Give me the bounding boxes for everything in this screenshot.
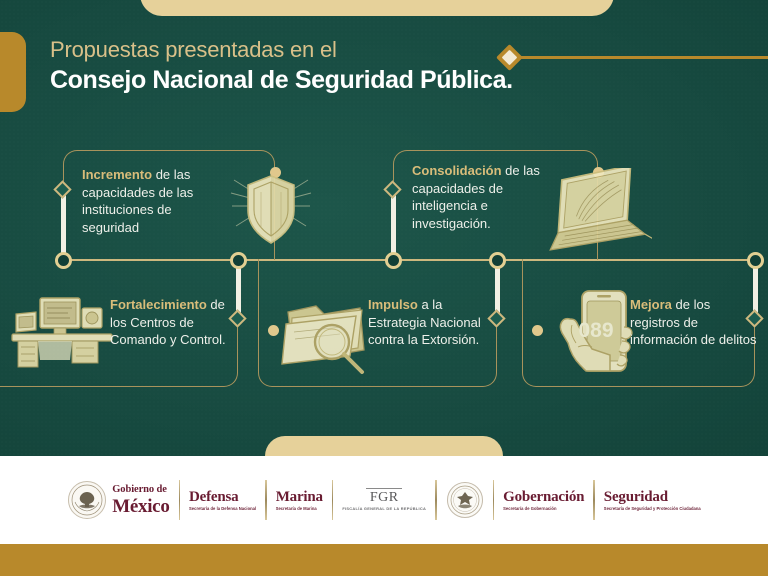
fgr-sub-label: FISCALÍA GENERAL DE LA REPÚBLICA (342, 506, 426, 511)
defensa-big-label: Defensa (189, 489, 256, 506)
logo-fgr: FGR FISCALÍA GENERAL DE LA REPÚBLICA (333, 477, 435, 523)
logo-seguridad: Seguridad Secretaría de Seguridad y Prot… (595, 477, 710, 523)
footer-gold-bar (0, 544, 768, 576)
card-text-impulso: Impulso a la Estrategia Nacional contra … (368, 296, 503, 349)
title-gold-rule (508, 56, 768, 59)
gobierno-small-label: Gobierno de (112, 484, 169, 496)
logo-seal-eagle (437, 477, 493, 523)
timeline-node-4 (489, 252, 506, 269)
marina-sub-label: Secretaría de Marina (276, 506, 323, 512)
stem-consolidacion (391, 190, 396, 260)
left-gold-tab (0, 32, 26, 112)
card-lead-fortalecimiento: Fortalecimiento (110, 297, 207, 312)
card-lead-consolidacion: Consolidación (412, 163, 502, 178)
top-beige-banner (140, 0, 614, 16)
defensa-labels: Defensa Secretaría de la Defensa Naciona… (189, 489, 256, 512)
logo-marina: Marina Secretaría de Marina (267, 477, 332, 523)
mexico-seal-icon (67, 480, 107, 520)
eagle-seal-icon (446, 481, 484, 519)
title-line-1: Propuestas presentadas en el (50, 36, 520, 64)
connector-dot-mejora (532, 325, 543, 336)
infographic-poster: Propuestas presentadas en el Consejo Nac… (0, 0, 768, 576)
logo-row: Gobierno de México Defensa Secretaría de… (58, 472, 710, 528)
card-text-fortalecimiento: Fortalecimiento de los Centros de Comand… (110, 296, 245, 349)
folder-magnifier-icon (276, 292, 376, 378)
card-lead-impulso: Impulso (368, 297, 418, 312)
card-text-incremento: Incremento de las capacidades de las ins… (82, 166, 232, 236)
title-line-2: Consejo Nacional de Seguridad Pública. (50, 64, 520, 96)
fgr-labels: FGR FISCALÍA GENERAL DE LA REPÚBLICA (342, 488, 426, 511)
stem-incremento (61, 190, 66, 260)
logo-gobierno-de-mexico: Gobierno de México (58, 477, 178, 523)
card-lead-incremento: Incremento (82, 167, 152, 182)
logo-gobernacion: Gobernación Secretaría de Gobernación (494, 477, 593, 523)
seguridad-sub-label: Secretaría de Seguridad y Protección Ciu… (604, 506, 701, 512)
marina-big-label: Marina (276, 489, 323, 506)
gobernacion-big-label: Gobernación (503, 489, 584, 506)
timeline-node-3 (385, 252, 402, 269)
timeline-node-5 (747, 252, 764, 269)
defensa-sub-label: Secretaría de la Defensa Nacional (189, 506, 256, 512)
mexico-big-label: México (112, 496, 169, 517)
footer-logo-bar: Gobierno de México Defensa Secretaría de… (0, 456, 768, 544)
phone-number-label: 089 (578, 319, 613, 342)
marina-labels: Marina Secretaría de Marina (276, 489, 323, 512)
fgr-rule (366, 488, 402, 489)
fgr-big-label: FGR (370, 490, 399, 505)
timeline-node-1 (55, 252, 72, 269)
seguridad-labels: Seguridad Secretaría de Seguridad y Prot… (604, 489, 701, 512)
card-text-mejora: Mejora de los registros de información d… (630, 296, 760, 349)
card-text-consolidacion: Consolidación de las capacidades de inte… (412, 162, 552, 232)
shield-icon (228, 166, 314, 252)
control-desk-icon (10, 290, 114, 374)
gobernacion-sub-label: Secretaría de Gobernación (503, 506, 584, 512)
laptop-icon (540, 168, 652, 256)
seguridad-big-label: Seguridad (604, 489, 701, 506)
card-lead-mejora: Mejora (630, 297, 672, 312)
gobierno-de-mexico-labels: Gobierno de México (112, 484, 169, 517)
page-title: Propuestas presentadas en el Consejo Nac… (50, 36, 520, 96)
logo-defensa: Defensa Secretaría de la Defensa Naciona… (180, 477, 265, 523)
gobernacion-labels: Gobernación Secretaría de Gobernación (503, 489, 584, 512)
timeline-node-2 (230, 252, 247, 269)
